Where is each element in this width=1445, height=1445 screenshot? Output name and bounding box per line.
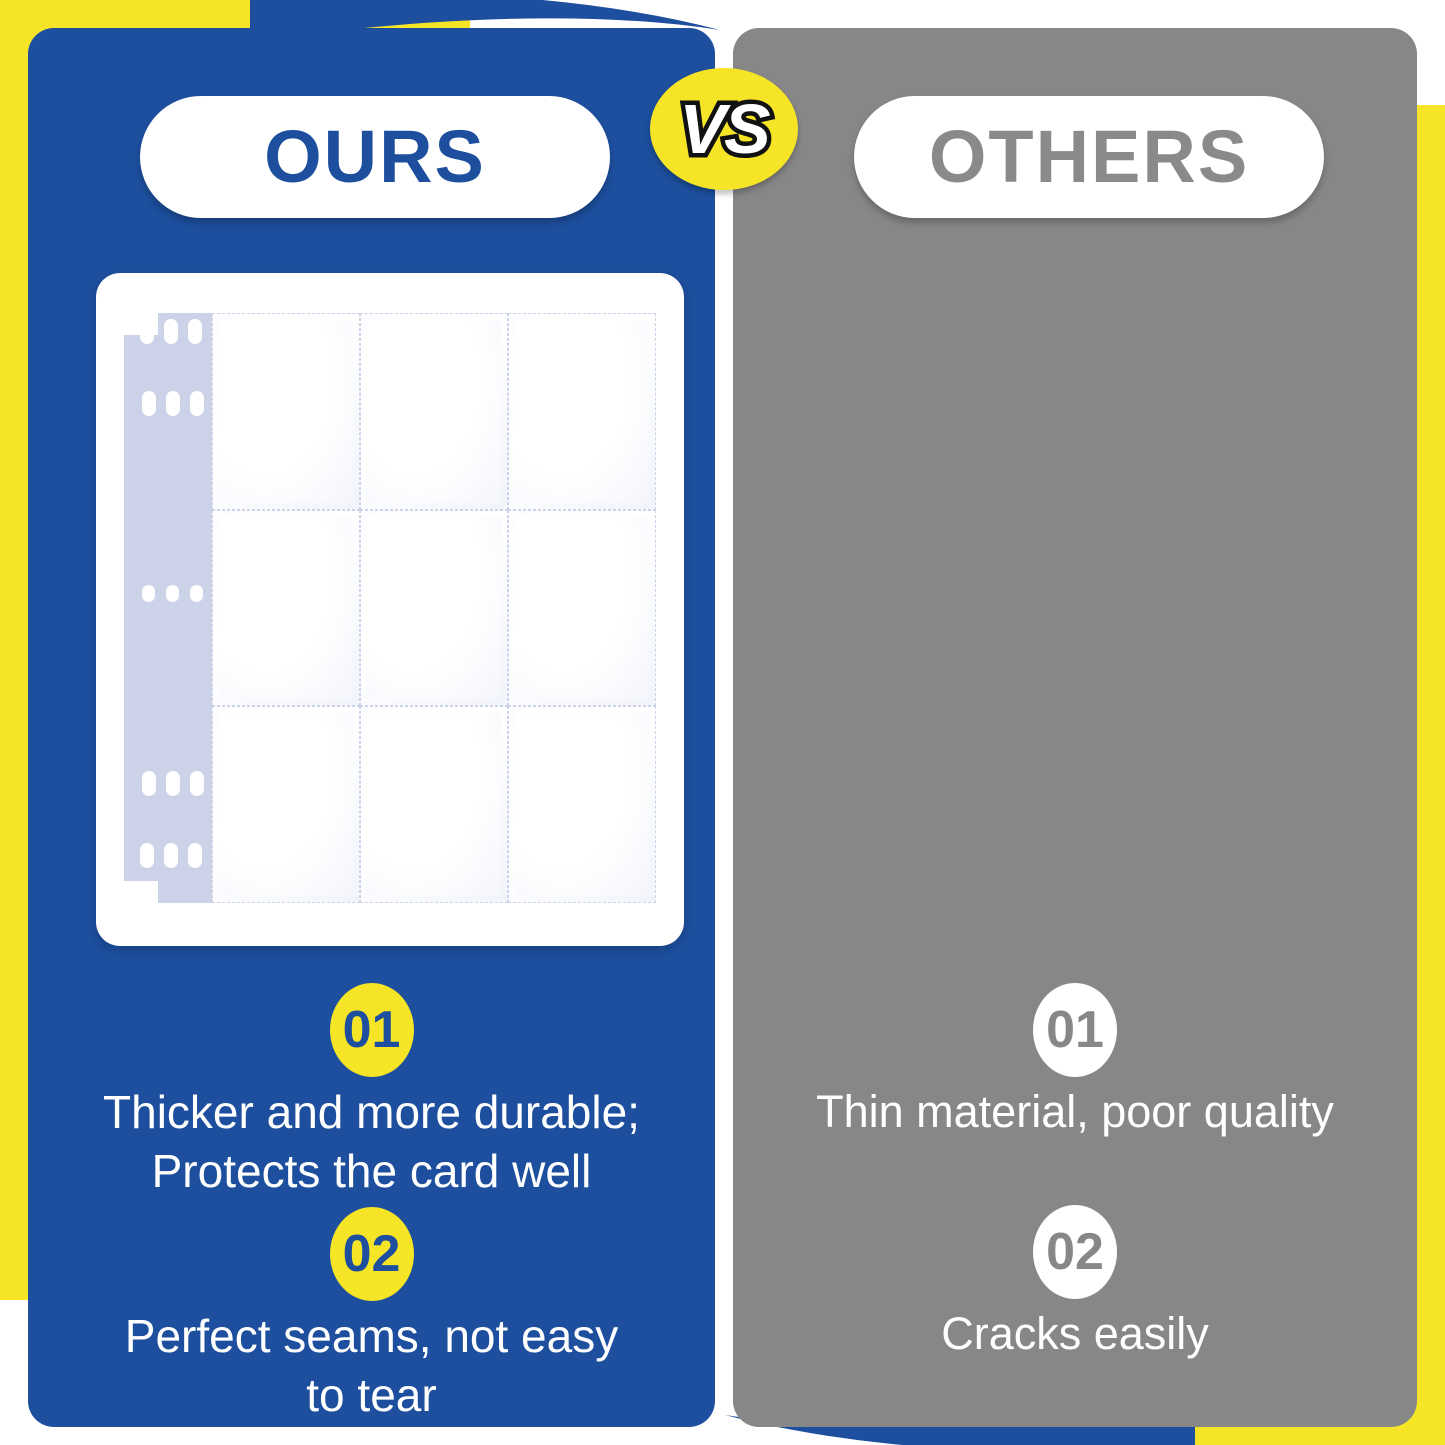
card-pocket [508, 313, 656, 510]
header-pill-others: OTHERS [854, 96, 1324, 218]
feature-item: 02 Perfect seams, not easy to tear [28, 1207, 715, 1425]
card-pocket [508, 510, 656, 707]
feature-list-others: 01 Thin material, poor quality 02 Cracks… [733, 983, 1417, 1426]
feature-list-ours: 01 Thicker and more durable; Protects th… [28, 983, 715, 1431]
feature-number-badge: 02 [1033, 1205, 1117, 1299]
vs-badge: VS [650, 68, 798, 190]
panel-ours: OURS [28, 28, 715, 1427]
panel-others: OTHERS 01 T [733, 28, 1417, 1427]
feature-text: Cracks easily [755, 1305, 1395, 1363]
card-pocket [212, 510, 360, 707]
feature-text: Perfect seams, not easy to tear [50, 1307, 693, 1425]
feature-text: Thicker and more durable; Protects the c… [50, 1083, 693, 1201]
comparison-infographic: OURS [0, 0, 1445, 1445]
header-pill-ours: OURS [140, 96, 610, 218]
vs-label: VS [679, 94, 768, 164]
feature-item: 01 Thicker and more durable; Protects th… [28, 983, 715, 1201]
feature-number-badge: 02 [330, 1207, 414, 1301]
card-pocket [360, 510, 508, 707]
feature-number-badge: 01 [330, 983, 414, 1077]
feature-item: 01 Thin material, poor quality [733, 983, 1417, 1141]
nine-pocket-sleeve-page-icon [124, 291, 656, 926]
card-pocket [212, 706, 360, 903]
feature-number-badge: 01 [1033, 983, 1117, 1077]
product-image-card-ours [96, 273, 684, 946]
feature-item: 02 Cracks easily [733, 1205, 1417, 1363]
card-pocket [360, 706, 508, 903]
header-label-others: OTHERS [929, 120, 1249, 194]
header-label-ours: OURS [264, 120, 486, 194]
card-pocket [508, 706, 656, 903]
pocket-grid [212, 313, 656, 903]
feature-text: Thin material, poor quality [755, 1083, 1395, 1141]
card-pocket [360, 313, 508, 510]
card-pocket [212, 313, 360, 510]
